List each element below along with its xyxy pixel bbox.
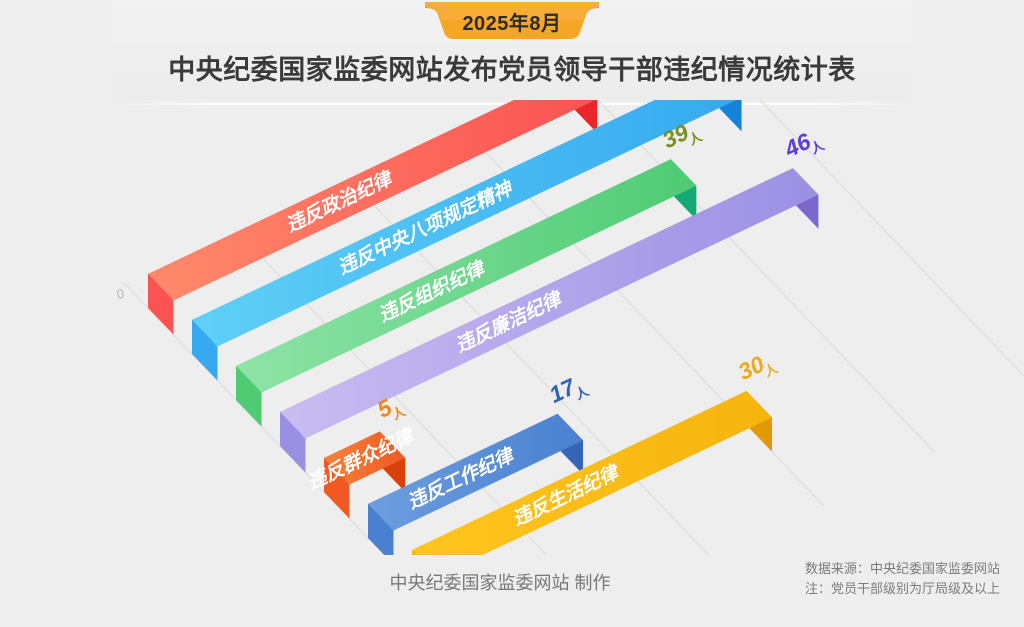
page-title: 中央纪委国家监委网站发布党员领导干部违纪情况统计表 (0, 48, 1024, 87)
bar-value-unit: 人 (573, 383, 592, 403)
bar-value-unit: 人 (390, 403, 409, 423)
bar-group: 违反生活纪律30人 (412, 346, 781, 555)
producer-credit: 中央纪委国家监委网站 制作 (300, 569, 700, 595)
axis-tick-label: 0 (114, 285, 128, 302)
header: 2025年8月 中央纪委国家监委网站发布党员领导干部违纪情况统计表 (0, 0, 1024, 108)
bar-value-label: 17人 (545, 368, 592, 412)
footer-notes: 数据来源：中央纪委国家监委网站 注：党员干部级别为厅局级及以上 (805, 559, 1000, 599)
infographic-root: 2025年8月 中央纪委国家监委网站发布党员领导干部违纪情况统计表 010203… (0, 0, 1024, 627)
chart-bars: 违反政治纪律38人违反中央八项规定精神47人违反组织纪律39人违反廉洁纪律46人… (148, 100, 827, 555)
bar-value-unit: 人 (762, 360, 781, 380)
footer: 中央纪委国家监委网站 制作 数据来源：中央纪委国家监委网站 注：党员干部级别为厅… (0, 555, 1024, 627)
isometric-bar-chart: 01020304050 违反政治纪律38人违反中央八项规定精神47人违反组织纪律… (0, 100, 1024, 555)
bar-value-unit: 人 (686, 128, 705, 148)
bar-value-label: 46人 (779, 123, 827, 167)
bar-value-label: 30人 (734, 346, 781, 390)
chart-canvas: 01020304050 违反政治纪律38人违反中央八项规定精神47人违反组织纪律… (0, 100, 1024, 555)
gridline-50 (681, 100, 1024, 399)
scope-note: 注：党员干部级别为厅局级及以上 (805, 579, 1000, 599)
data-source-note: 数据来源：中央纪委国家监委网站 (805, 559, 1000, 579)
